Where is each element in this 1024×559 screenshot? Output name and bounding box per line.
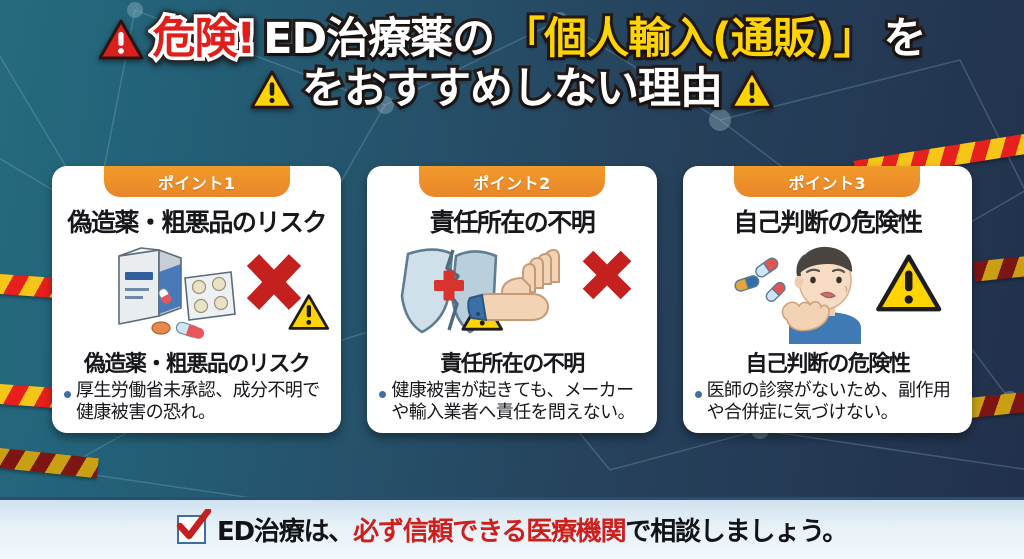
point-card-1-bullet-text: 厚生労働省未承認、成分不明で健康被害の恐れ。	[76, 380, 330, 424]
point-card-3-tab: ポイント3	[734, 166, 920, 197]
headline-danger-word: 危険!	[152, 18, 255, 62]
warning-triangle-yellow-left-icon	[250, 70, 294, 110]
headline-line-1: 危険! ED治療薬の 「個人輸入(通販)」 を	[0, 18, 1024, 62]
footer-message-part-1: ED治療は、	[217, 517, 353, 547]
point-card-3-illustration	[683, 241, 972, 345]
red-checkmark-checkbox-icon	[177, 515, 206, 544]
footer-message-part-3: で相談しましょう。	[625, 517, 847, 547]
point-card-1-bullet: 厚生労働省未承認、成分不明で健康被害の恐れ。	[52, 380, 341, 424]
point-card-2[interactable]: ポイント2 責任所在の不明	[367, 166, 656, 433]
point-card-2-bullet-text: 健康被害が起きても、メーカーや輸入業者へ責任を問えない。	[391, 380, 645, 424]
point-card-2-bullet: 健康被害が起きても、メーカーや輸入業者へ責任を問えない。	[367, 380, 656, 424]
point-card-3[interactable]: ポイント3 自己判断の危険性	[683, 166, 972, 433]
point-card-1-tab: ポイント1	[104, 166, 290, 197]
point-card-3-tab-label: ポイント3	[788, 170, 866, 194]
footer-banner: ED治療は、必ず信頼できる医療機関で相談しましょう。	[0, 497, 1024, 559]
point-card-3-subtitle: 自己判断の危険性	[745, 346, 909, 378]
point-card-1-subtitle: 偽造薬・粗悪品のリスク	[84, 346, 310, 378]
points-card-list: ポイント1 偽造薬・粗悪品のリスク	[52, 166, 972, 433]
bullet-dot-icon	[695, 391, 702, 398]
point-card-3-title: 自己判断の危険性	[733, 203, 921, 239]
point-card-3-bullet-text: 医師の診察がないため、副作用や合併症に気づけない。	[707, 380, 961, 424]
footer-message-emphasis: 必ず信頼できる医療機関	[353, 517, 625, 547]
bullet-dot-icon	[379, 391, 386, 398]
footer-message: ED治療は、必ず信頼できる医療機関で相談しましょう。	[217, 511, 847, 548]
headline: 危険! ED治療薬の 「個人輸入(通販)」 を をおすすめしない理由	[0, 18, 1024, 112]
point-card-1-title: 偽造薬・粗悪品のリスク	[67, 203, 326, 239]
headline-ed-drug-text: ED治療薬の	[263, 18, 494, 62]
headline-particle-wo: を	[884, 18, 926, 62]
bullet-dot-icon	[64, 391, 71, 398]
warning-triangle-yellow-right-icon	[730, 70, 774, 110]
headline-personal-import-text: 「個人輸入(通販)」	[502, 18, 875, 62]
point-card-1-tab-label: ポイント1	[158, 170, 236, 194]
point-card-1-illustration	[52, 241, 341, 345]
point-card-1[interactable]: ポイント1 偽造薬・粗悪品のリスク	[52, 166, 341, 433]
point-card-3-bullet: 医師の診察がないため、副作用や合併症に気づけない。	[683, 380, 972, 424]
point-card-2-illustration	[367, 241, 656, 345]
infographic-canvas: 危険! ED治療薬の 「個人輸入(通販)」 を をおすすめしない理由 ポイント1	[0, 0, 1024, 559]
point-card-2-tab: ポイント2	[419, 166, 605, 197]
headline-line-2: をおすすめしない理由	[0, 68, 1024, 112]
point-card-2-tab-label: ポイント2	[473, 170, 551, 194]
point-card-2-title: 責任所在の不明	[430, 203, 595, 239]
headline-reason-text: をおすすめしない理由	[302, 68, 722, 112]
point-card-2-subtitle: 責任所在の不明	[440, 346, 584, 378]
warning-triangle-red-icon	[98, 19, 144, 61]
